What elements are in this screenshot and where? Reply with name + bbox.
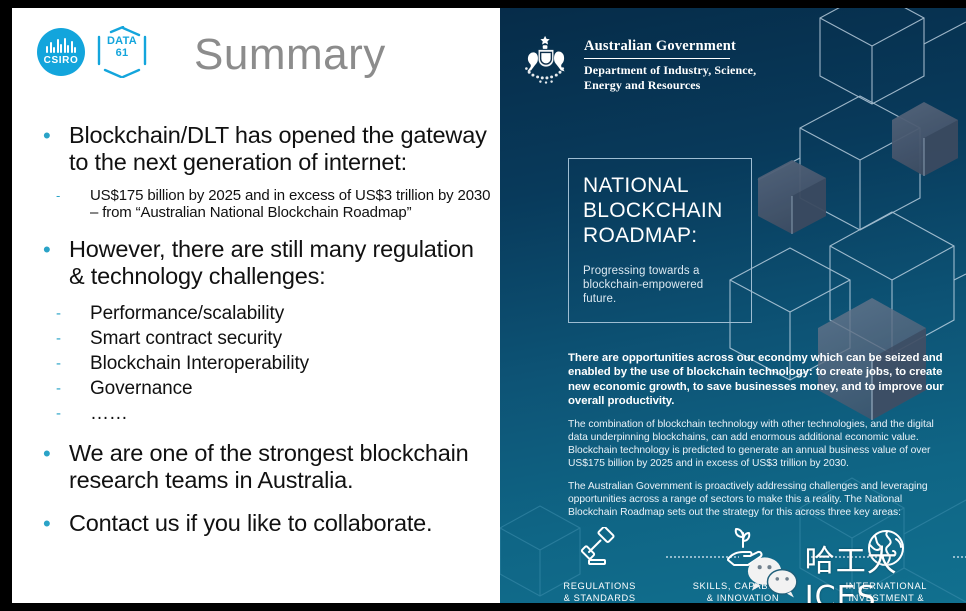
list-item: - Performance/scalability [34, 301, 494, 326]
data61-wordmark: DATA 61 [95, 36, 149, 59]
csiro-wordmark: CSIRO [44, 55, 79, 66]
key-area-label: REGULATIONS & STANDARDS [563, 580, 636, 603]
list-item: - Blockchain Interoperability [34, 351, 494, 376]
list-item: • However, there are still many regulati… [34, 236, 494, 290]
dash-bullet-icon: - [34, 376, 90, 401]
logo-row: CSIRO DATA 61 [37, 26, 149, 78]
watermark-text: 哈工大ICES [805, 536, 966, 603]
dash-bullet-icon: - [34, 326, 90, 351]
bullet-dot-icon: • [34, 122, 69, 176]
bullet-dot-icon: • [34, 236, 69, 290]
gavel-icon [577, 524, 623, 576]
bullet-text: However, there are still many regulation… [69, 236, 494, 290]
roadmap-subtitle: Progressing towards a blockchain-empower… [583, 264, 737, 306]
bullet-dot-icon: • [34, 440, 69, 494]
lead-paragraph: There are opportunities across our econo… [568, 351, 950, 408]
blockchain-roadmap-poster: Australian Government Department of Indu… [500, 8, 966, 603]
bullet-text: Blockchain/DLT has opened the gateway to… [69, 122, 494, 176]
list-item: • We are one of the strongest blockchain… [34, 440, 494, 494]
list-item: - Smart contract security [34, 326, 494, 351]
key-area-regulations: REGULATIONS & STANDARDS [528, 524, 671, 603]
government-title: Australian Government [584, 38, 756, 55]
roadmap-headline-box: NATIONAL BLOCKCHAIN ROADMAP: Progressing… [568, 158, 752, 323]
bullet-text: Governance [90, 376, 193, 401]
summary-bullet-list: • Blockchain/DLT has opened the gateway … [34, 122, 494, 539]
dash-bullet-icon: - [34, 187, 90, 221]
divider [584, 58, 730, 59]
page-title: Summary [194, 30, 386, 80]
list-item: - US$175 billion by 2025 and in excess o… [34, 187, 494, 221]
summary-slide-panel: CSIRO DATA 61 [12, 8, 500, 603]
body-paragraph: The Australian Government is proactively… [568, 480, 950, 519]
letterbox-top [0, 0, 966, 8]
list-item: - …… [34, 401, 494, 426]
commonwealth-coat-of-arms-icon [518, 34, 574, 90]
dash-bullet-icon: - [34, 301, 90, 326]
csiro-bars-icon [46, 38, 76, 53]
bullet-text: Performance/scalability [90, 301, 284, 326]
body-paragraph: The combination of blockchain technology… [568, 418, 950, 470]
bullet-text: Contact us if you like to collaborate. [69, 510, 432, 537]
bullet-dot-icon: • [34, 510, 69, 537]
bullet-text: Smart contract security [90, 326, 282, 351]
bullet-text: US$175 billion by 2025 and in excess of … [90, 187, 494, 221]
australian-government-logo: Australian Government Department of Indu… [518, 34, 756, 93]
roadmap-body-copy: There are opportunities across our econo… [568, 351, 950, 519]
csiro-logo: CSIRO [37, 28, 85, 76]
data61-logo: DATA 61 [95, 26, 149, 78]
list-item: - Governance [34, 376, 494, 401]
department-title: Department of Industry, Science, Energy … [584, 63, 756, 93]
dash-bullet-icon: - [34, 401, 90, 426]
letterbox-left [0, 0, 12, 611]
list-item: • Contact us if you like to collaborate. [34, 510, 494, 537]
wechat-watermark: 哈工大ICES [745, 536, 966, 603]
roadmap-title: NATIONAL BLOCKCHAIN ROADMAP: [583, 173, 737, 248]
slide-stage: CSIRO DATA 61 [0, 0, 966, 611]
bullet-text: …… [90, 401, 128, 426]
wechat-icon [745, 554, 800, 598]
dash-bullet-icon: - [34, 351, 90, 376]
letterbox-bottom [0, 603, 966, 611]
list-item: • Blockchain/DLT has opened the gateway … [34, 122, 494, 176]
government-wordmark: Australian Government Department of Indu… [584, 34, 756, 93]
bullet-text: Blockchain Interoperability [90, 351, 309, 376]
bullet-text: We are one of the strongest blockchain r… [69, 440, 494, 494]
